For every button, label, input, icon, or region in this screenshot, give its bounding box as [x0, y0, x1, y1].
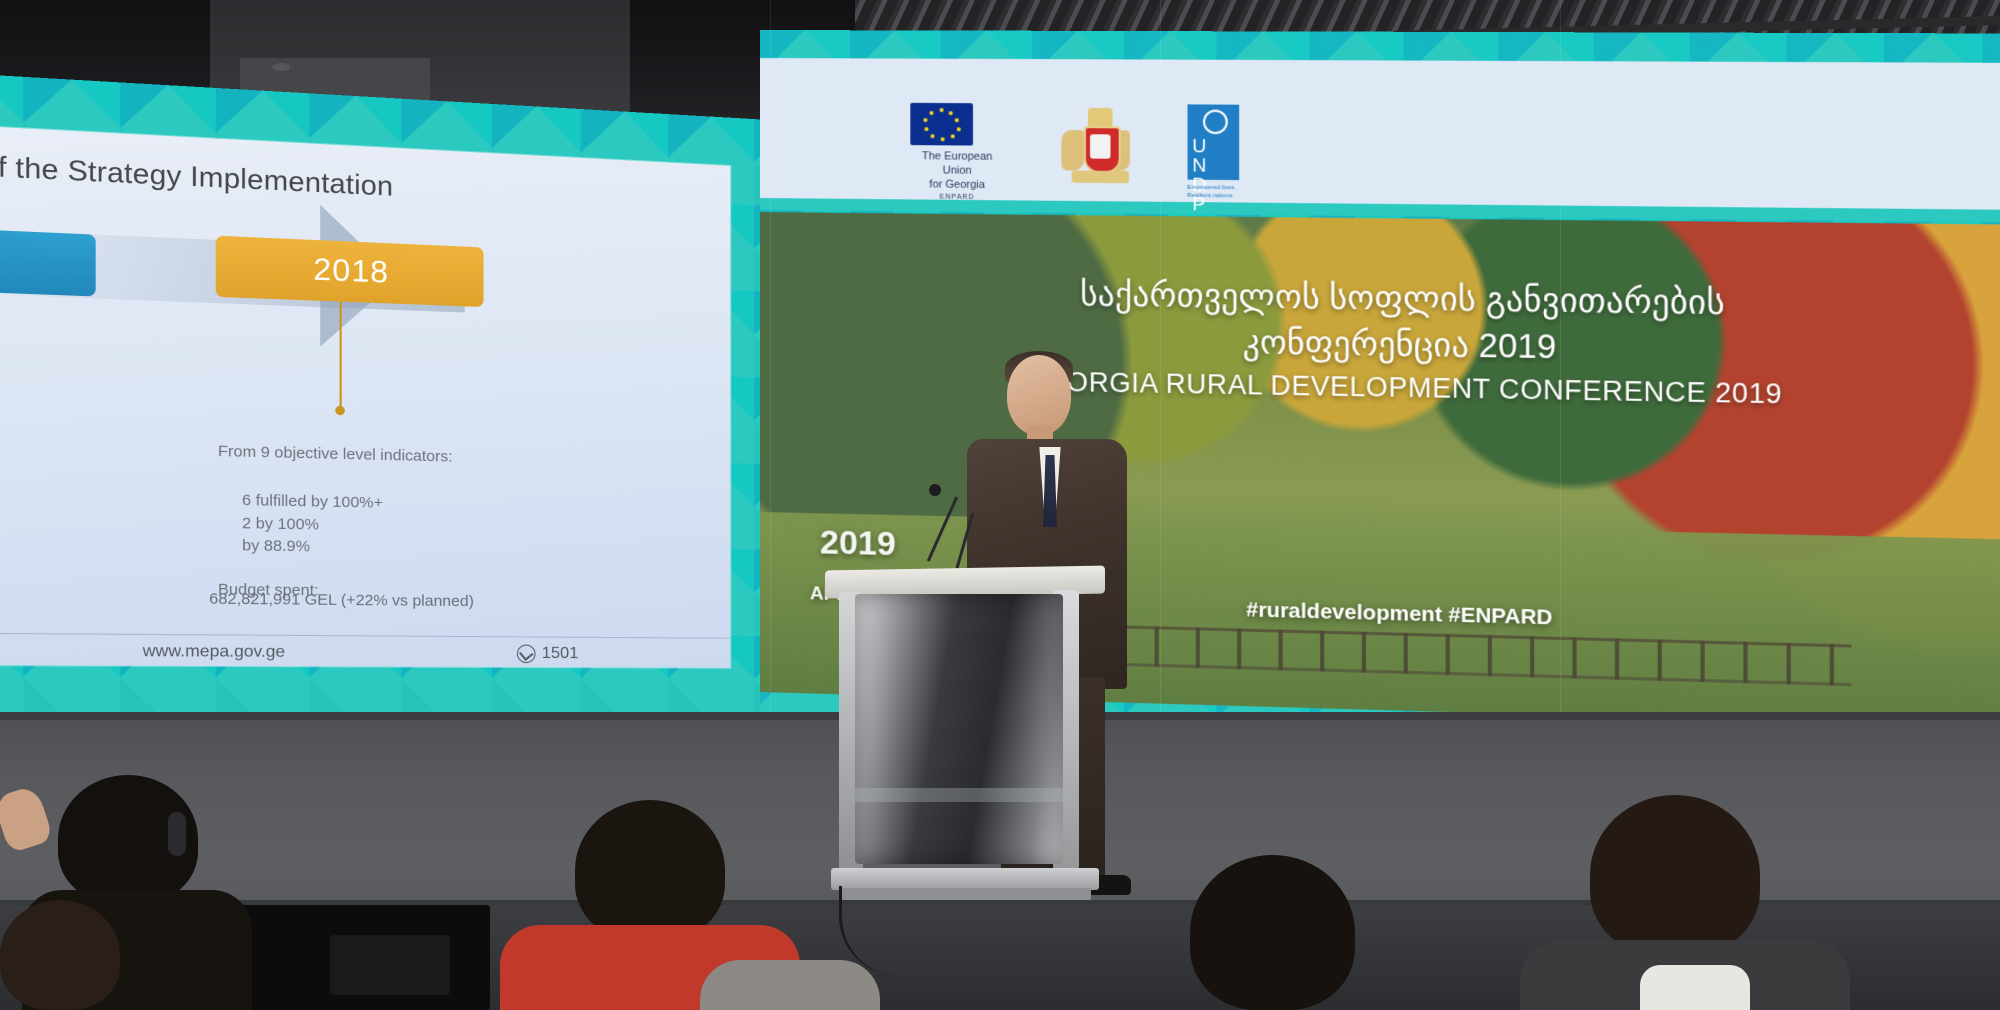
- conference-stage-scene: ults of the Strategy Implementation 2017…: [0, 0, 2000, 1010]
- eu-logo-block: The European Union for Georgia ENPARD: [910, 103, 1004, 203]
- slide-column-right: From 9 objective level indicators: 6 ful…: [218, 440, 599, 605]
- connector-dot-2018: [335, 406, 345, 416]
- podium-band: [855, 788, 1063, 802]
- audience-shoulders: [700, 960, 880, 1010]
- column-heading: level indicators:: [0, 434, 174, 466]
- list-item: by 88.9%: [242, 535, 599, 563]
- undp-icon: U N D P: [1187, 104, 1239, 180]
- slide-footer-divider: [0, 632, 730, 673]
- eu-flag-icon: [910, 103, 973, 146]
- slide-column-left: level indicators: d by 100% or 100%+; d …: [0, 434, 174, 563]
- headphones-icon: [168, 812, 186, 856]
- undp-logo-block: U N D P Empowered lives. Resilient natio…: [1187, 104, 1247, 201]
- year-chip-2018: 2018: [216, 236, 484, 307]
- conference-title-georgian: საქართველოს სოფლის განვითარების კონფერენ…: [760, 268, 2000, 378]
- slide-title: ults of the Strategy Implementation: [0, 147, 393, 203]
- year-chip-2017: 2017: [0, 222, 96, 296]
- budget-value-right: 682,821,991 GEL (+22% vs planned): [209, 590, 474, 610]
- head: [1007, 355, 1071, 435]
- footer-phone-number: 1501: [542, 645, 579, 664]
- audience-head: [1190, 855, 1355, 1010]
- footer-phone: 1501: [517, 645, 578, 664]
- foreground-equipment-detail: [330, 935, 450, 995]
- audience-head: [1590, 795, 1760, 955]
- presentation-slide: ults of the Strategy Implementation 2017…: [0, 121, 730, 668]
- eu-logo-caption: The European Union for Georgia ENPARD: [910, 150, 1004, 203]
- globe-icon: [1203, 110, 1228, 135]
- podium: [845, 568, 1085, 928]
- logo-row: The European Union for Georgia ENPARD: [910, 103, 1247, 211]
- footer-website-url: www.mepa.gov.ge: [143, 642, 285, 662]
- connector-line-2018: [340, 302, 342, 408]
- audience-head: [0, 900, 120, 1010]
- year-large-text: 2019: [820, 523, 896, 564]
- microphone-icon: [929, 484, 941, 496]
- phone-icon: [517, 645, 536, 664]
- podium-front-panel: [855, 594, 1063, 864]
- logo-banner: The European Union for Georgia ENPARD: [760, 58, 2000, 210]
- audience-shirt-collar: [1640, 965, 1750, 1010]
- undp-caption: Empowered lives. Resilient nations.: [1187, 184, 1247, 202]
- audience-head: [575, 800, 725, 940]
- georgia-coat-of-arms-icon: [1057, 104, 1134, 202]
